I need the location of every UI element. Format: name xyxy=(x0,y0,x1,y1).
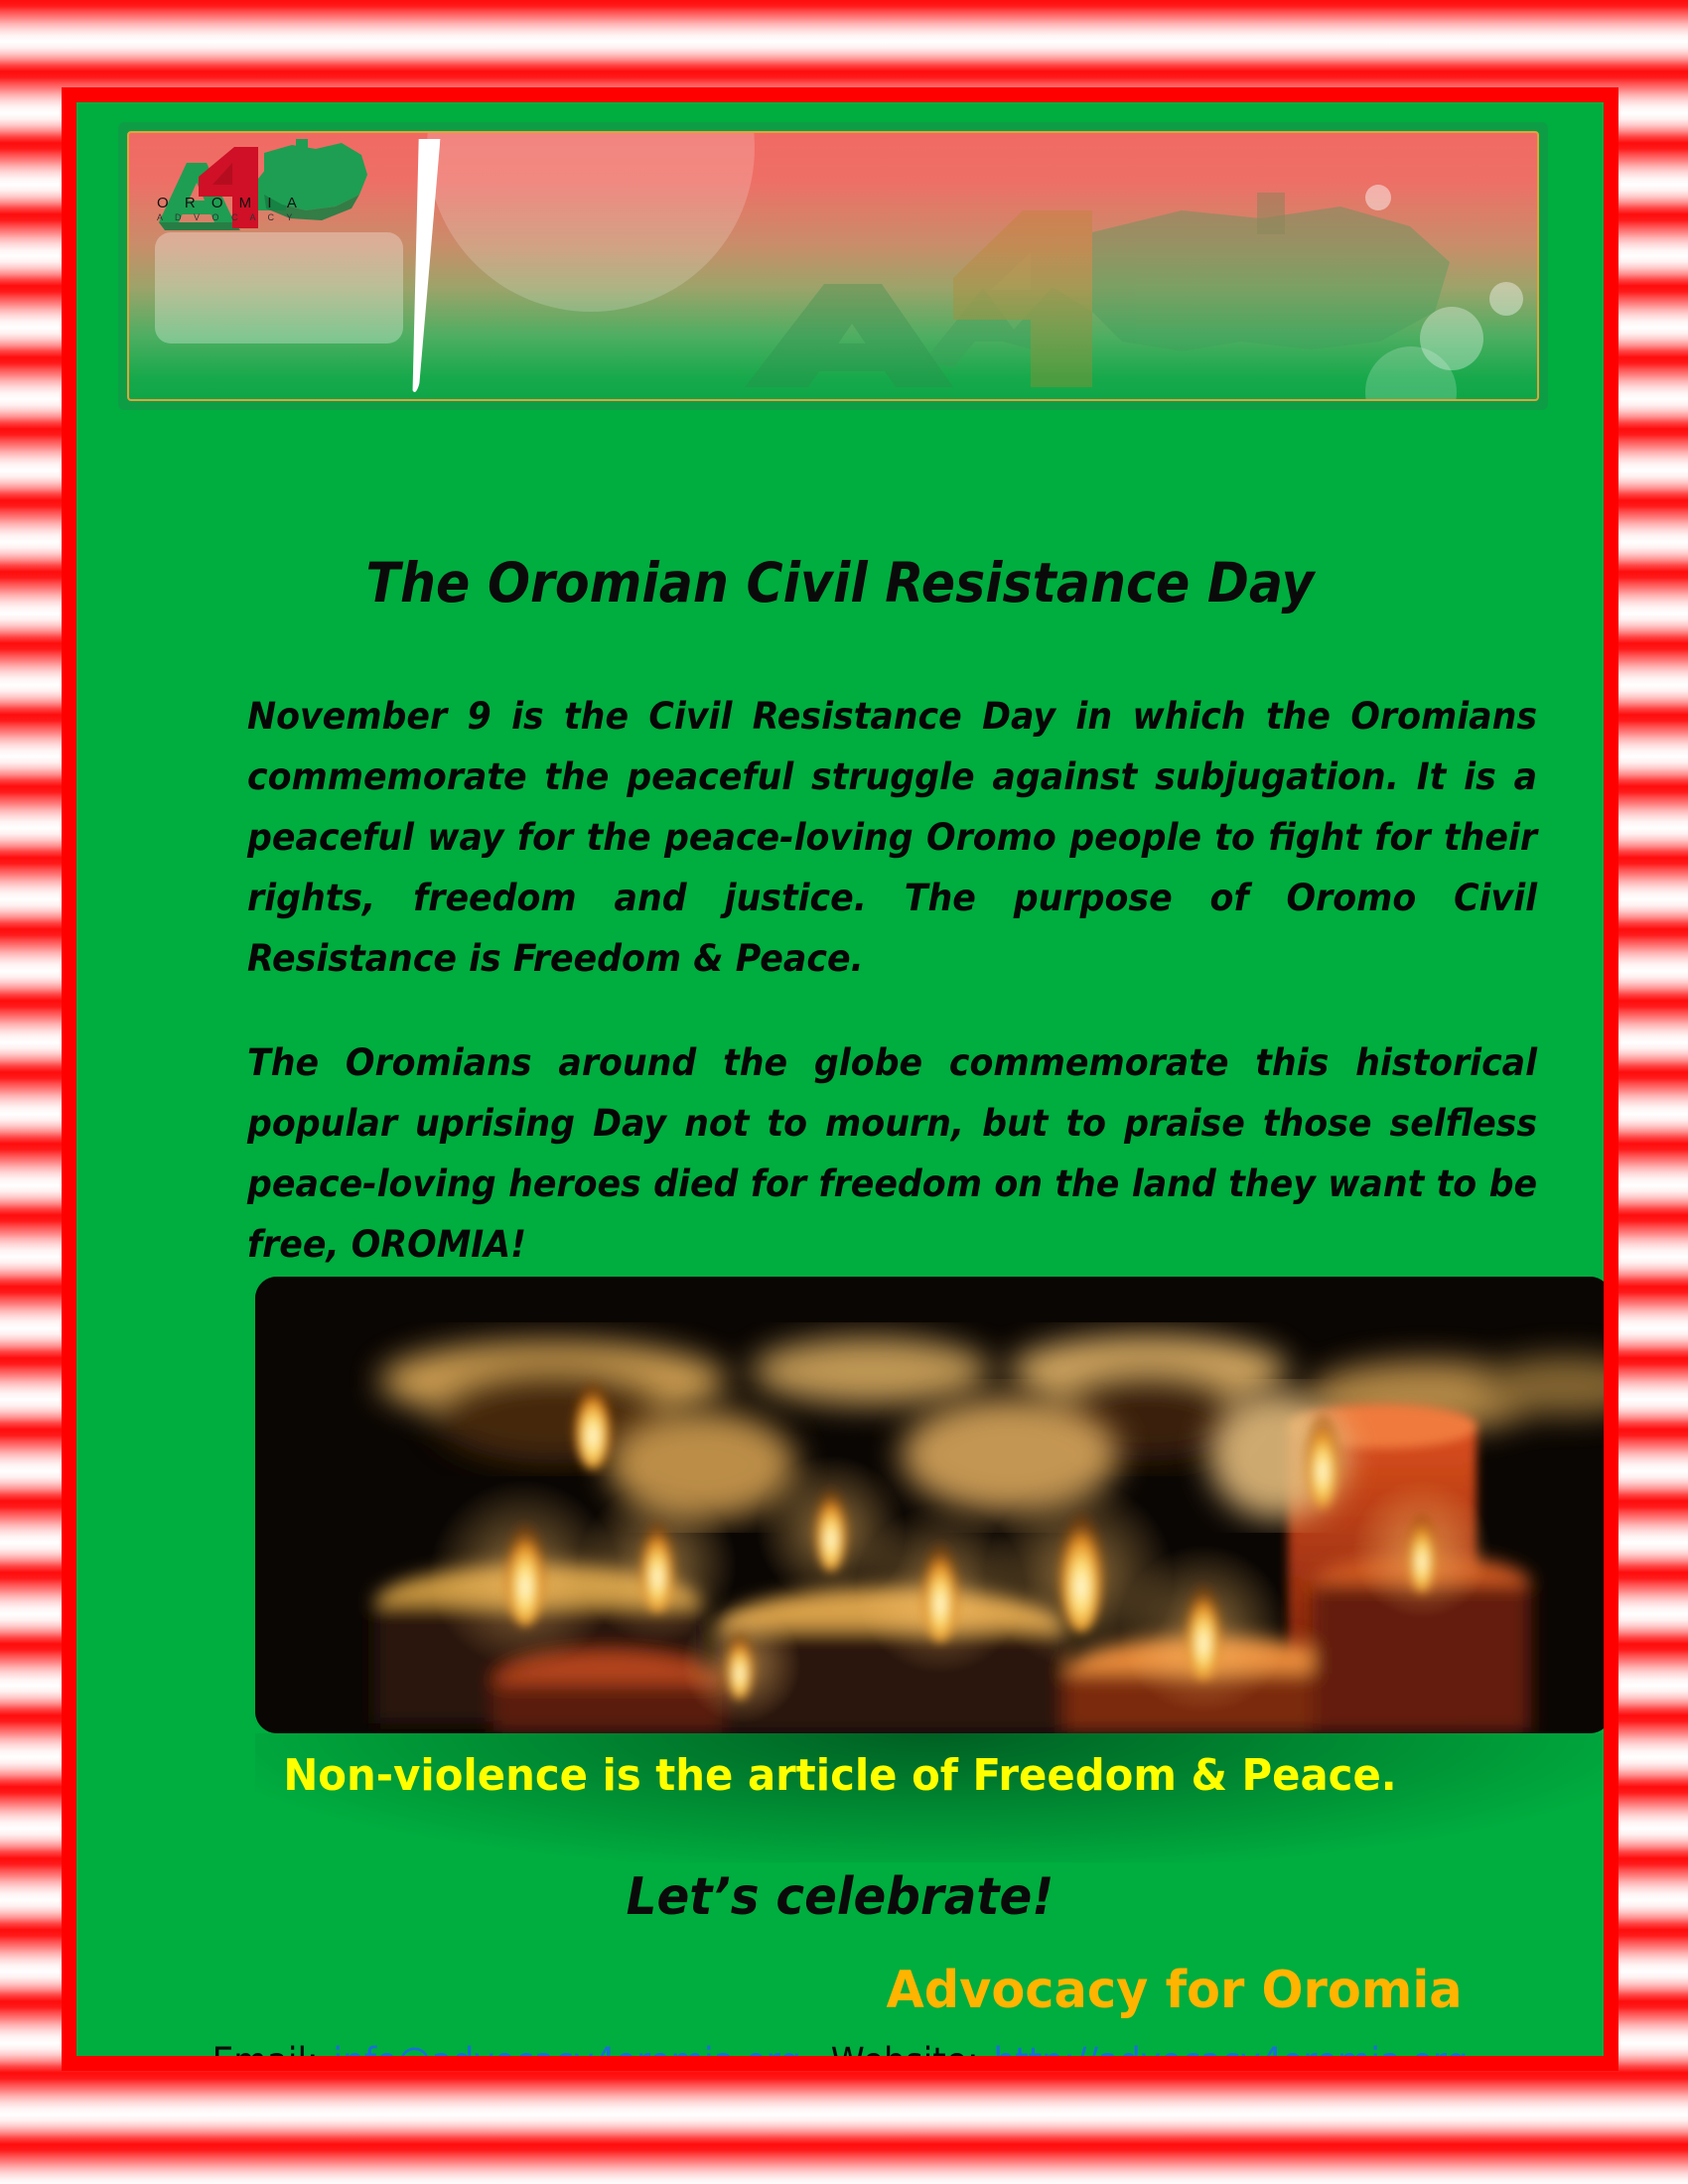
banner-divider-sliver xyxy=(398,139,441,392)
organization-name: Advocacy for Oromia xyxy=(887,1961,1463,2020)
body-copy: November 9 is the Civil Resistance Day i… xyxy=(247,686,1604,1318)
website-link[interactable]: http://advocacy4oromia.org xyxy=(993,2040,1468,2056)
candles-photo xyxy=(255,1277,1604,1733)
email-link[interactable]: info@advocacy4oromia.org xyxy=(334,2040,802,2056)
masthead-banner-inner: O R O M I A A D V O C A C Y xyxy=(127,131,1539,401)
banner-watermark-logo-icon xyxy=(626,193,1499,401)
celebrate-line: Let’s celebrate! xyxy=(130,1867,1550,1927)
poster-root: O R O M I A A D V O C A C Y xyxy=(0,0,1688,2184)
logo-plate xyxy=(155,232,403,343)
website-label: Website: xyxy=(831,2040,979,2056)
masthead-banner: O R O M I A A D V O C A C Y xyxy=(118,122,1548,410)
photo-caption: Non-violence is the article of Freedom &… xyxy=(114,1750,1565,1801)
paragraph-2: The Oromians around the globe commemorat… xyxy=(247,1032,1537,1275)
email-label: Email: xyxy=(212,2040,319,2056)
page-title: The Oromian Civil Resistance Day xyxy=(138,551,1543,614)
poster-red-frame: O R O M I A A D V O C A C Y xyxy=(62,87,1618,2071)
contact-line: Email:info@advocacy4oromia.orgWebsite:ht… xyxy=(130,2040,1550,2056)
brand-logo-icon xyxy=(147,139,373,238)
poster-green-canvas: O R O M I A A D V O C A C Y xyxy=(76,102,1604,2056)
paragraph-1: November 9 is the Civil Resistance Day i… xyxy=(247,686,1537,989)
